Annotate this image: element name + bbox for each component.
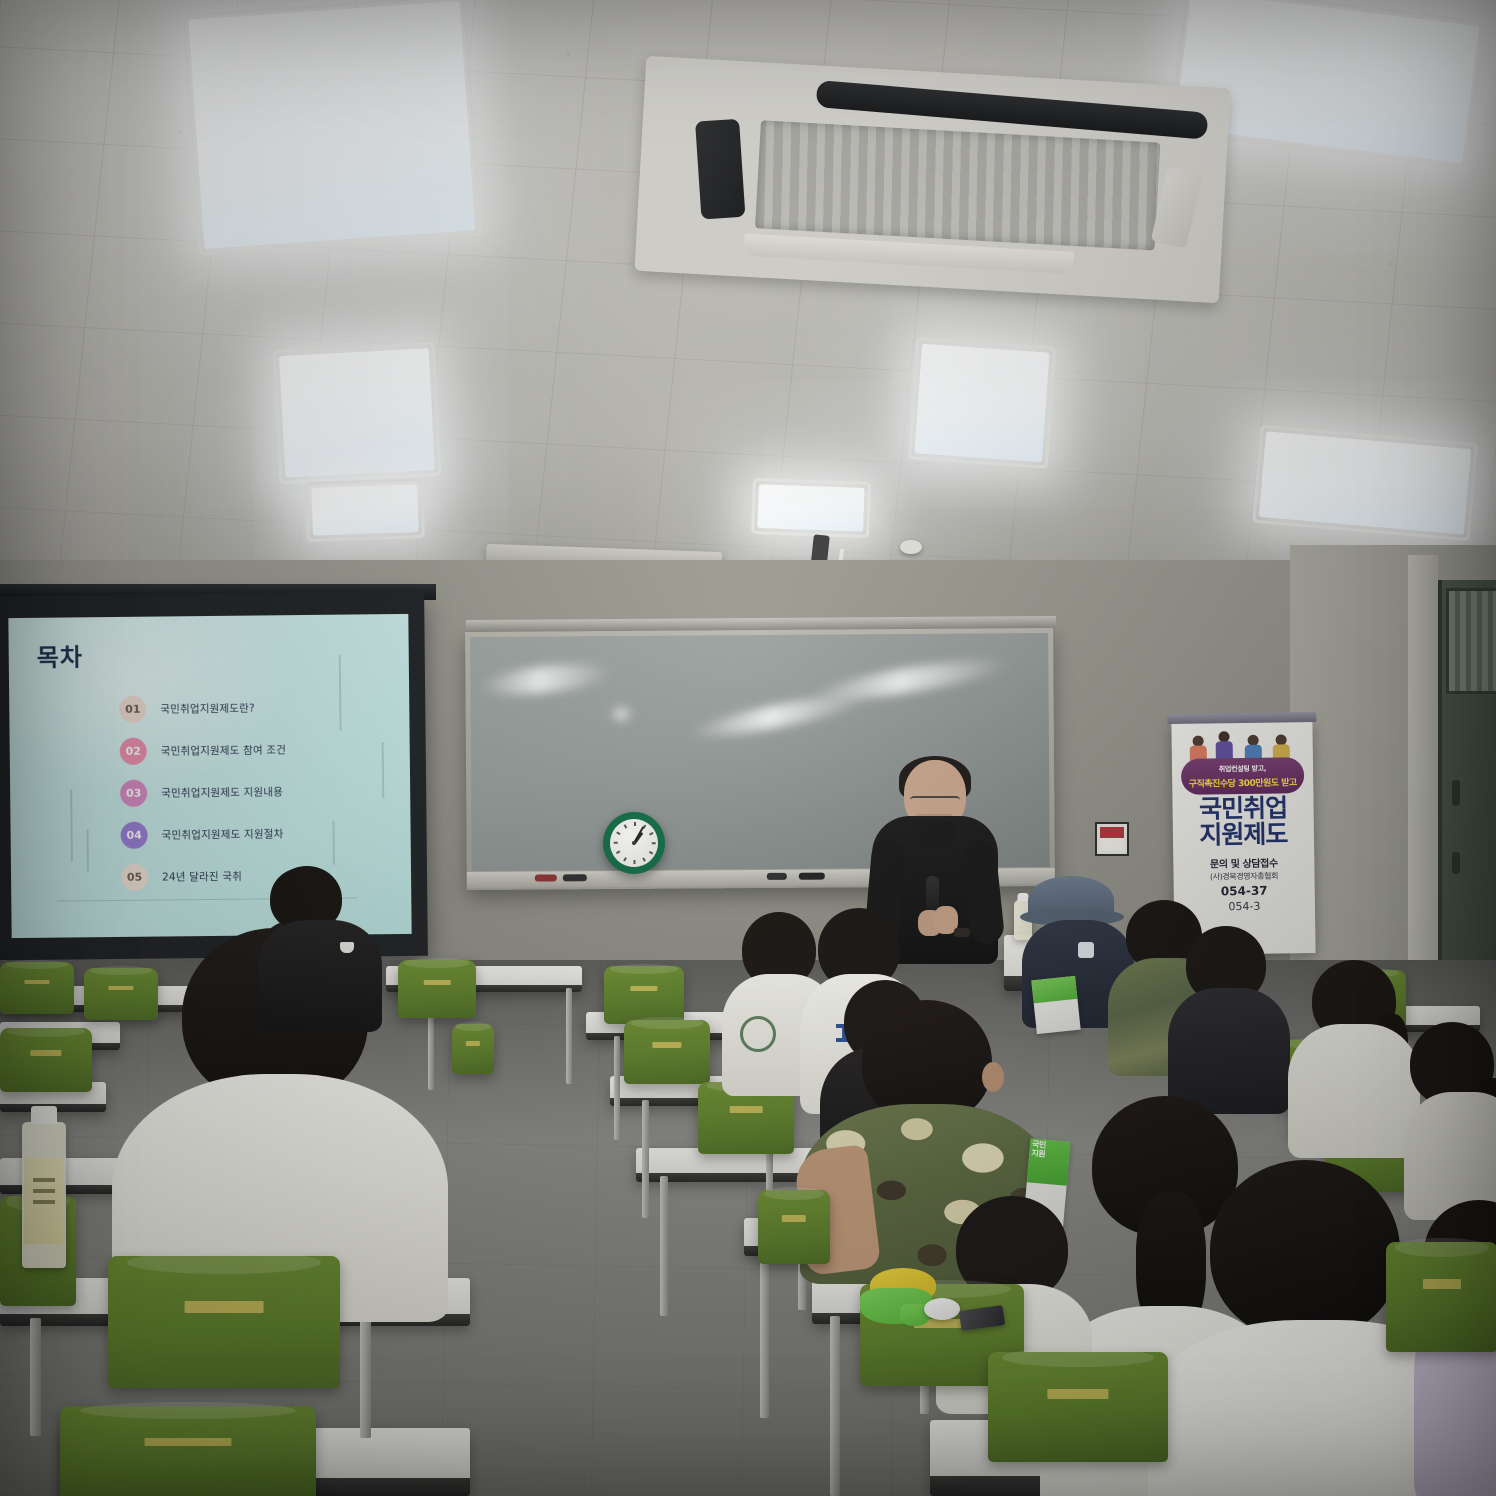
chair[interactable]	[624, 1020, 710, 1084]
chair-sticker	[30, 1050, 61, 1056]
desk-leg	[830, 1316, 840, 1496]
beverage-bottle	[22, 1122, 66, 1268]
banner-title-line1: 국민취업	[1172, 795, 1313, 823]
agenda-number: 05	[121, 863, 148, 890]
agenda-number: 01	[119, 695, 146, 722]
slide-decor-line	[70, 789, 72, 861]
chair-sticker	[782, 1215, 806, 1222]
classroom-photo-scene: 목차 01 국민취업지원제도란? 02 국민취업지원제도 참여 조건 03 국민…	[0, 0, 1496, 1496]
desk-leg	[642, 1100, 649, 1218]
list-item: 04 국민취업지원제도 지원절차	[120, 814, 390, 853]
list-item: 02 국민취업지원제도 참여 조건	[120, 730, 390, 769]
marker-pen[interactable]	[535, 874, 557, 881]
attendee-body	[1288, 1024, 1420, 1158]
emergency-sign	[1095, 822, 1129, 856]
earbuds-case	[924, 1298, 960, 1320]
ceiling-light-panel	[757, 484, 864, 532]
chair-sticker	[652, 1042, 681, 1048]
list-item: 01 국민취업지원제도란?	[119, 688, 389, 727]
slide-title: 목차	[37, 637, 84, 672]
desk-leg	[660, 1176, 668, 1316]
chair-sticker	[630, 986, 657, 991]
agenda-number: 02	[120, 737, 147, 764]
marker-pen[interactable]	[799, 873, 825, 880]
desk-leg	[360, 1318, 371, 1438]
clock-center-pin	[632, 841, 636, 845]
chair[interactable]	[1386, 1242, 1496, 1352]
agenda-label: 24년 달라진 국취	[162, 868, 242, 884]
chair[interactable]	[452, 1024, 494, 1074]
chair[interactable]	[0, 1028, 92, 1092]
wall-clock	[603, 812, 665, 874]
clock-face	[610, 819, 658, 867]
attendee	[1168, 926, 1286, 1104]
chair[interactable]	[758, 1190, 830, 1264]
banner-tagline-box: 취업컨설팅 받고, 구직촉진수당 300만원도 받고	[1181, 757, 1304, 795]
agenda-label: 국민취업지원제도란?	[160, 700, 255, 716]
desk-leg	[760, 1248, 769, 1418]
ceiling-light-panel	[1259, 431, 1472, 535]
whiteboard-hotspot	[611, 708, 633, 720]
slide-decor-line	[87, 829, 89, 871]
attendee-body	[258, 920, 382, 1032]
brand-logo-icon	[340, 942, 354, 953]
attendee	[1288, 960, 1416, 1150]
desk-leg	[614, 1036, 620, 1140]
glasses-icon	[910, 796, 960, 809]
chair[interactable]	[0, 962, 74, 1014]
ac-louver-right	[1151, 167, 1203, 249]
marker-pen[interactable]	[767, 873, 787, 880]
chair-sticker	[185, 1301, 264, 1313]
banner-tagline-line1: 취업컨설팅 받고,	[1219, 763, 1267, 774]
attendee	[258, 866, 378, 1026]
ceiling	[0, 0, 1496, 600]
attendee-head	[1210, 1160, 1400, 1340]
agenda-label: 국민취업지원제도 지원내용	[161, 784, 283, 800]
air-conditioner-unit	[634, 56, 1230, 303]
list-item: 03 국민취업지원제도 지원내용	[120, 772, 390, 811]
chair-sticker	[24, 980, 49, 985]
ac-grille	[755, 120, 1160, 250]
ceiling-light-panel	[279, 348, 435, 478]
banner-top-bar	[1167, 712, 1316, 724]
smoke-detector-icon	[900, 540, 922, 554]
chair[interactable]	[108, 1256, 340, 1388]
chair[interactable]	[988, 1352, 1168, 1462]
agenda-number: 03	[120, 779, 147, 806]
banner-title: 국민취업 지원제도	[1172, 795, 1314, 849]
ceiling-light-panel	[311, 484, 419, 536]
door-handle-icon[interactable]	[1452, 852, 1460, 874]
chair[interactable]	[60, 1406, 316, 1496]
ac-louver-left	[695, 119, 745, 220]
ceiling-light-panel	[188, 1, 475, 249]
door-hinge-icon	[1452, 780, 1460, 806]
whiteboard-glare	[810, 652, 1011, 708]
desk-leg	[30, 1318, 41, 1436]
ceiling-light-panel	[914, 344, 1049, 463]
whiteboard-glare	[479, 659, 611, 699]
wristwatch-icon	[954, 928, 970, 937]
banner-phone-primary: 054-37	[1174, 883, 1315, 899]
agenda-label: 국민취업지원제도 참여 조건	[161, 742, 287, 758]
bottle-cap	[31, 1106, 57, 1124]
chair[interactable]	[604, 966, 684, 1024]
pamphlet-header	[1031, 976, 1077, 1003]
presenter-collar	[912, 822, 956, 848]
chair-sticker	[1047, 1389, 1108, 1399]
chair-sticker	[1423, 1279, 1461, 1289]
attendee-ear	[982, 1062, 1004, 1092]
bottle-label-text	[33, 1178, 55, 1208]
agenda-number: 04	[120, 821, 147, 848]
pamphlet	[1031, 976, 1080, 1034]
agenda-label: 국민취업지원제도 지원절차	[162, 826, 284, 842]
tshirt-graphic-icon	[740, 1016, 776, 1052]
marker-pen[interactable]	[563, 874, 587, 881]
wall-pillar	[1408, 555, 1438, 985]
chair-sticker	[730, 1106, 763, 1112]
banner-organization: (사)경북경영자총협회	[1173, 870, 1314, 883]
jacket-logo-icon	[1078, 942, 1094, 958]
banner-tagline-line2: 구직촉진수당 300만원도 받고	[1189, 775, 1297, 790]
door-window	[1446, 588, 1496, 694]
banner-subtitle: 문의 및 상담접수	[1173, 854, 1314, 871]
banner-title-line2: 지원제도	[1173, 821, 1314, 849]
classroom-door[interactable]	[1438, 580, 1496, 980]
chair-sticker	[466, 1041, 480, 1046]
chair-sticker	[144, 1438, 231, 1446]
desk-leg	[566, 988, 572, 1084]
